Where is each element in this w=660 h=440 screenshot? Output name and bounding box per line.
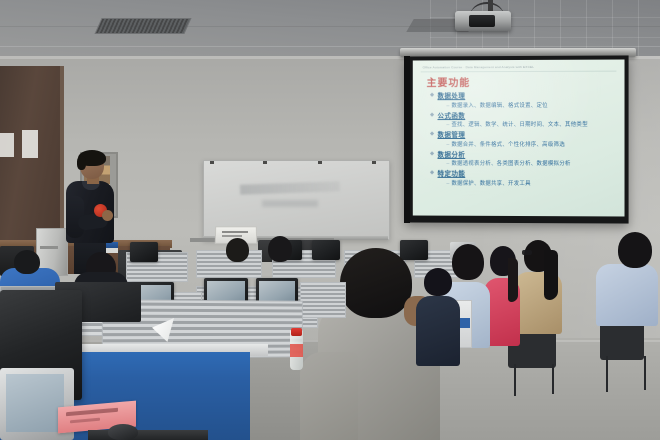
attendee-head — [340, 248, 412, 318]
slide-section-heading: 数据处理 — [431, 90, 621, 100]
chair-leg — [552, 364, 554, 394]
desk-divider — [300, 282, 346, 318]
glasses-icon — [522, 250, 532, 255]
attendee-torso — [416, 296, 460, 366]
ceiling-vent-icon — [94, 18, 191, 34]
attendee-head — [618, 232, 652, 268]
slide-section: 特定功能 数据保护、数据共享、开发工具 — [431, 168, 621, 187]
lab-monitor — [312, 240, 340, 260]
projection-screen-edge — [404, 56, 410, 223]
slide-header: Office Automation Course · Data Manageme… — [423, 65, 619, 70]
attendee-head — [452, 244, 484, 280]
projection-screen: Office Automation Course · Data Manageme… — [413, 60, 625, 217]
attendee-head — [424, 268, 452, 296]
slide-section-heading: 数据分析 — [431, 148, 621, 158]
water-bottle-label — [290, 344, 303, 357]
classroom-photo-scene: Office Automation Course · Data Manageme… — [0, 0, 660, 440]
slide-section-heading: 特定功能 — [431, 168, 621, 178]
paper-stand-text — [222, 231, 248, 233]
whiteboard-clip — [210, 161, 214, 164]
door-notice-paper — [22, 130, 38, 158]
chair-leg — [606, 356, 608, 392]
chair-leg — [644, 356, 646, 390]
slide-section-detail: 查找、逻辑、数学、统计、日期时间、文本、其他类型 — [431, 120, 621, 128]
foreground-monitor-screen — [6, 374, 64, 432]
pc-tower-panel — [40, 246, 58, 249]
slide-section: 数据管理 数据合并、条件格式、个性化排序、高级筛选 — [431, 129, 621, 148]
attendee-torso — [596, 264, 658, 326]
slide-section-detail: 数据保护、数据共享、开发工具 — [431, 178, 621, 186]
computer-mouse — [108, 424, 138, 440]
presenter-hand — [102, 210, 113, 221]
slide-header-rule — [421, 71, 617, 73]
slide-section: 数据分析 数据透视表分析、各类图表分析、数据模拟分析 — [431, 148, 621, 167]
lab-monitor — [130, 242, 158, 262]
attendee-head — [14, 250, 40, 274]
slide-bullet-list: 数据处理 数据录入、数据编辑、格式设置、定位 公式函数 查找、逻辑、数学、统计、… — [431, 90, 621, 188]
attendee-hair — [508, 258, 518, 302]
chair-leg — [514, 364, 516, 396]
projector-lens-icon — [469, 15, 495, 27]
lab-monitor — [400, 240, 428, 260]
water-bottle-cap — [291, 328, 302, 336]
attendee-head — [226, 238, 249, 262]
slide-section-heading: 公式函数 — [431, 109, 621, 119]
ceiling-edge — [0, 46, 660, 47]
attendee-arm — [300, 352, 358, 440]
slide-section: 数据处理 数据录入、数据编辑、格式设置、定位 — [431, 90, 621, 109]
paper-stand-text — [222, 235, 242, 237]
attendee-hair — [544, 250, 558, 300]
slide-section-detail: 数据录入、数据编辑、格式设置、定位 — [431, 100, 621, 108]
slide-title: 主要功能 — [427, 74, 471, 89]
slide-section-detail: 数据合并、条件格式、个性化排序、高级筛选 — [431, 139, 621, 147]
whiteboard-marks — [262, 200, 318, 207]
wall-notice-paper — [0, 133, 14, 157]
presenter-hair-side — [77, 156, 86, 170]
whiteboard-clip — [318, 161, 322, 164]
keyboard — [88, 430, 208, 440]
slide-section-detail: 数据透视表分析、各类图表分析、数据模拟分析 — [431, 159, 621, 167]
slide-section-heading: 数据管理 — [431, 129, 621, 139]
whiteboard-clip — [263, 161, 267, 164]
slide-section: 公式函数 查找、逻辑、数学、统计、日期时间、文本、其他类型 — [431, 109, 621, 128]
whiteboard-clip — [372, 161, 376, 164]
attendee-head — [268, 236, 292, 262]
